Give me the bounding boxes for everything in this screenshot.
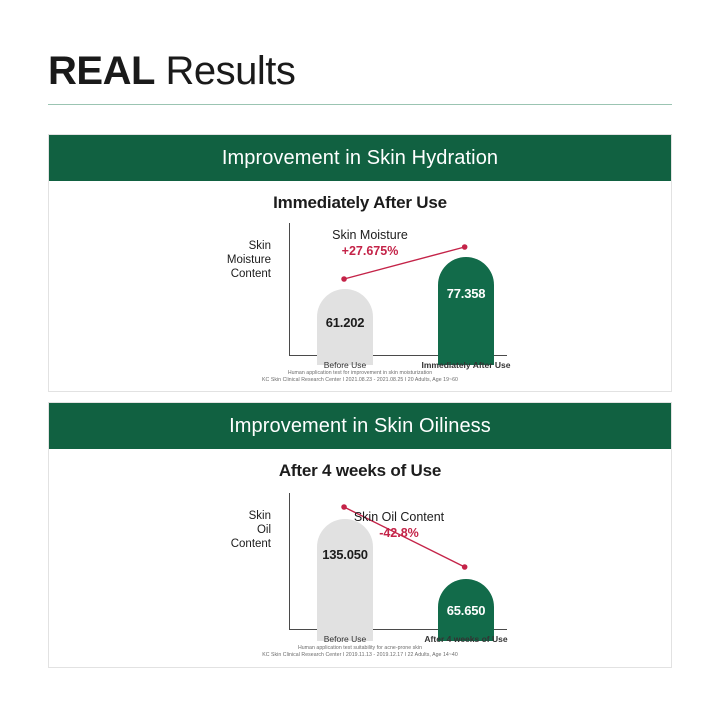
bar-before-hydration: 61.202 (317, 289, 373, 365)
chart-plot-oiliness: Skin Oil Content 135.050 65.650 (49, 481, 671, 641)
y-axis-line-hydration (289, 223, 290, 355)
chart-plot-hydration: Skin Moisture Content 61.202 77.358 (49, 213, 671, 365)
footnote-line-2-oiliness: KC Skin Clinical Research Center I 2019.… (49, 652, 671, 660)
bar-value-before-hydration: 61.202 (317, 315, 373, 330)
footnote-oiliness: Human application test suitability for a… (49, 645, 671, 660)
title-divider (48, 104, 672, 105)
page-title: REAL Results (48, 48, 295, 94)
card-header-hydration: Improvement in Skin Hydration (49, 135, 671, 181)
callout-hydration: Skin Moisture +27.675% (295, 227, 445, 259)
chart-title-oiliness: After 4 weeks of Use (49, 449, 671, 481)
chart-title-hydration: Immediately After Use (49, 181, 671, 213)
y-axis-line-oiliness (289, 493, 290, 629)
y-axis-label-oiliness: Skin Oil Content (199, 509, 271, 551)
bar-after-hydration: 77.358 (438, 257, 494, 365)
results-page: REAL Results Improvement in Skin Hydrati… (0, 0, 720, 720)
callout-name-hydration: Skin Moisture (295, 227, 445, 243)
callout-delta-hydration: +27.675% (295, 243, 445, 259)
tick-after-oiliness: After 4 weeks of Use (421, 634, 511, 644)
callout-oiliness: Skin Oil Content -42.8% (314, 509, 484, 541)
y-axis-label-hydration: Skin Moisture Content (199, 239, 271, 281)
card-skin-hydration: Improvement in Skin Hydration Immediatel… (48, 134, 672, 392)
tick-before-oiliness: Before Use (315, 634, 375, 644)
callout-name-oiliness: Skin Oil Content (314, 509, 484, 525)
card-header-title-oiliness: Improvement in Skin Oiliness (229, 415, 491, 438)
card-header-oiliness: Improvement in Skin Oiliness (49, 403, 671, 449)
card-body-oiliness: After 4 weeks of Use Skin Oil Content 13… (49, 449, 671, 667)
bar-value-after-hydration: 77.358 (438, 286, 494, 301)
tick-before-hydration: Before Use (315, 360, 375, 370)
footnote-line-1-hydration: Human application test for improvement i… (49, 370, 671, 378)
bar-value-after-oiliness: 65.650 (438, 603, 494, 618)
footnote-line-1-oiliness: Human application test suitability for a… (49, 645, 671, 653)
card-body-hydration: Immediately After Use Skin Moisture Cont… (49, 181, 671, 391)
card-header-title-hydration: Improvement in Skin Hydration (222, 147, 498, 170)
footnote-hydration: Human application test for improvement i… (49, 370, 671, 385)
tick-after-hydration: Immediately After Use (421, 360, 511, 370)
page-title-light: Results (155, 49, 296, 93)
bar-after-oiliness: 65.650 (438, 579, 494, 641)
callout-delta-oiliness: -42.8% (314, 525, 484, 541)
card-skin-oiliness: Improvement in Skin Oiliness After 4 wee… (48, 402, 672, 668)
bar-value-before-oiliness: 135.050 (317, 547, 373, 562)
footnote-line-2-hydration: KC Skin Clinical Research Center I 2021.… (49, 377, 671, 385)
page-title-strong: REAL (48, 49, 155, 93)
